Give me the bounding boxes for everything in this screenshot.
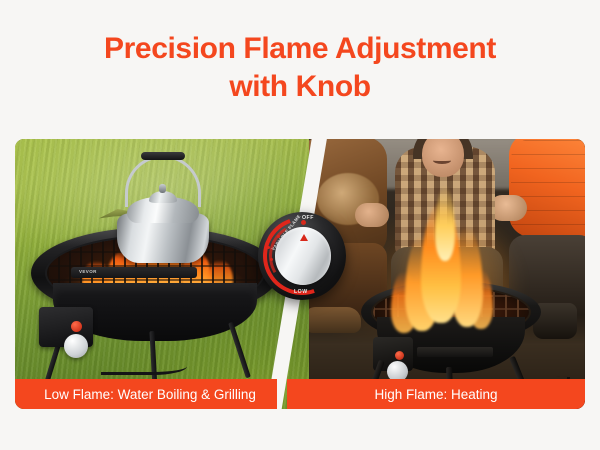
child-smile	[433, 157, 451, 164]
caption-low-flame: Low Flame: Water Boiling & Grilling	[15, 379, 277, 409]
igniter-button-right	[395, 351, 404, 360]
kettle	[111, 183, 215, 265]
person-left-hands	[355, 203, 389, 227]
page-title-line-1: Precision Flame Adjustment	[0, 30, 600, 68]
person-left-boot	[309, 307, 361, 333]
kettle-grip	[141, 152, 185, 160]
brand-logo: VEVOR	[79, 269, 97, 274]
igniter-button-left	[71, 321, 82, 332]
kettle-lid-knob	[159, 184, 166, 193]
page-title-line-2: with Knob	[0, 68, 600, 106]
person-right-quilting	[511, 139, 585, 239]
caption-high-flame: High Flame: Heating	[287, 379, 585, 409]
gas-knob-left	[64, 334, 88, 358]
caption-high-flame-text: High Flame: Heating	[374, 387, 497, 402]
gas-hose-left	[101, 353, 187, 375]
knob-pointer-icon	[300, 234, 308, 241]
flame-control-knob[interactable]: VARIABLE FLAME OFF LOW	[258, 212, 346, 300]
caption-low-flame-text: Low Flame: Water Boiling & Grilling	[44, 387, 256, 402]
page-title: Precision Flame Adjustment with Knob	[0, 30, 600, 106]
fire-pit-label-band-right	[417, 347, 493, 357]
knob-label-low: LOW	[294, 289, 308, 295]
panel-high-flame[interactable]	[309, 139, 585, 409]
knob-tick-2	[270, 258, 273, 261]
knob-label-off: OFF	[302, 215, 314, 221]
